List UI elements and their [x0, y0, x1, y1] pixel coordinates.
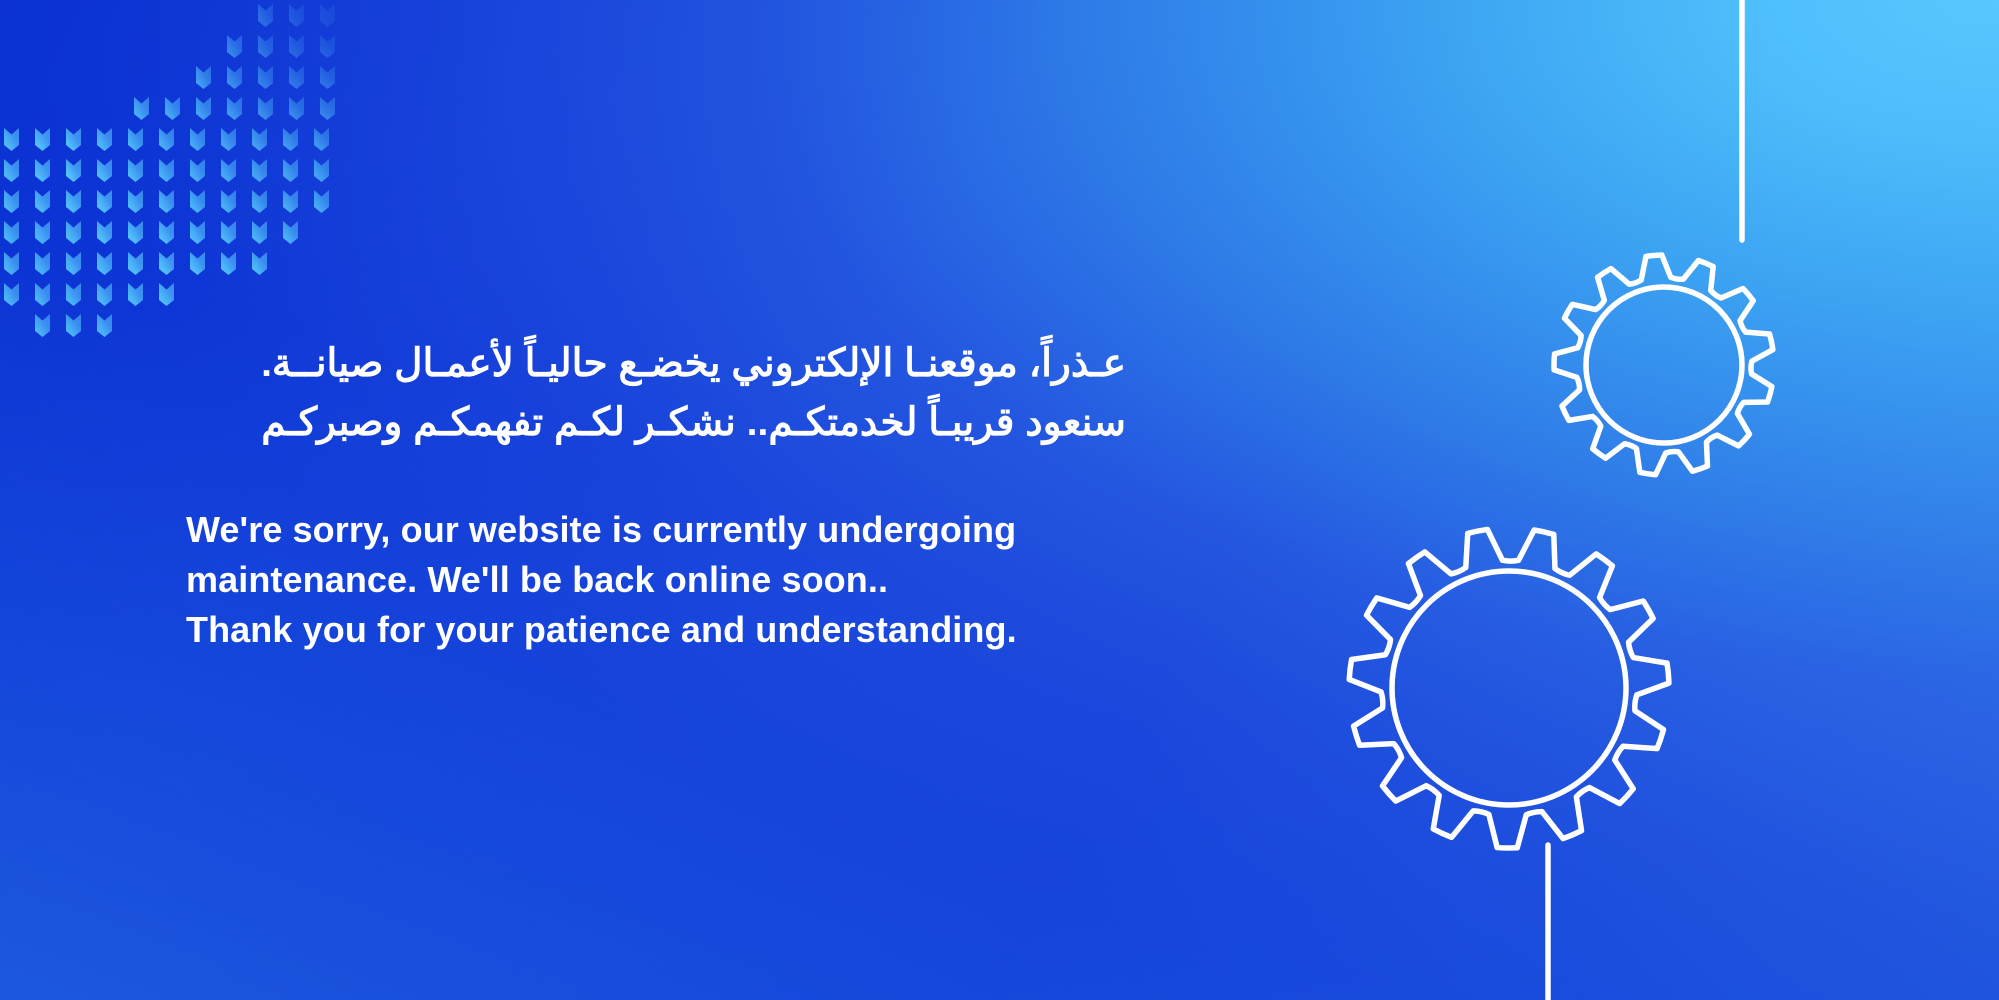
english-line-1: We're sorry, our website is currently un…: [186, 505, 1186, 555]
english-line-3: Thank you for your patience and understa…: [186, 605, 1186, 655]
english-message: We're sorry, our website is currently un…: [186, 505, 1186, 656]
arabic-message: عـذراً، موقعنـا الإلكتروني يخضـع حاليـاً…: [186, 334, 1126, 453]
arabic-line-1: عـذراً، موقعنـا الإلكتروني يخضـع حاليـاً…: [186, 334, 1126, 393]
english-line-2: maintenance. We'll be back online soon..: [186, 555, 1186, 605]
message-block: عـذراً، موقعنـا الإلكتروني يخضـع حاليـاً…: [186, 334, 1186, 656]
arabic-line-2: سنعود قريبـاً لخدمتكـم.. نشكـر لكـم تفهم…: [186, 393, 1126, 452]
maintenance-page: عـذراً، موقعنـا الإلكتروني يخضـع حاليـاً…: [0, 0, 1999, 1000]
